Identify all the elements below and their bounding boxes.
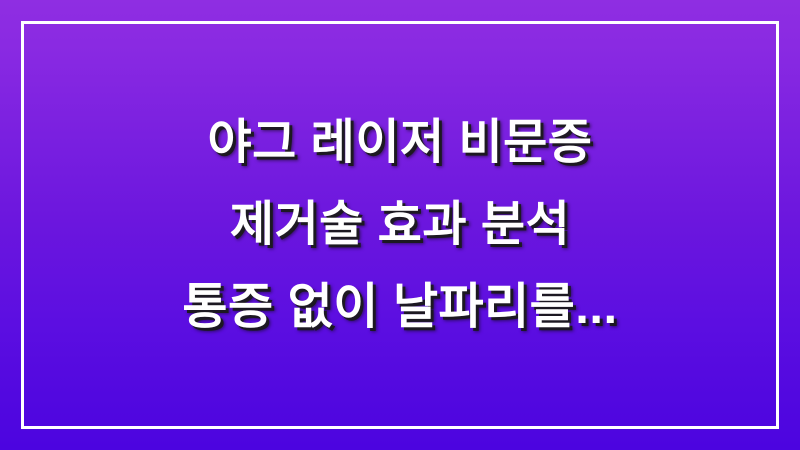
thumbnail-card: 야그 레이저 비문증 제거술 효과 분석 통증 없이 날파리를... [0, 0, 800, 450]
title-line-2: 제거술 효과 분석 [46, 201, 754, 249]
title-line-3: 통증 없이 날파리를... [46, 283, 754, 331]
title-block: 야그 레이저 비문증 제거술 효과 분석 통증 없이 날파리를... [0, 0, 800, 450]
title-line-1: 야그 레이저 비문증 [46, 119, 754, 167]
